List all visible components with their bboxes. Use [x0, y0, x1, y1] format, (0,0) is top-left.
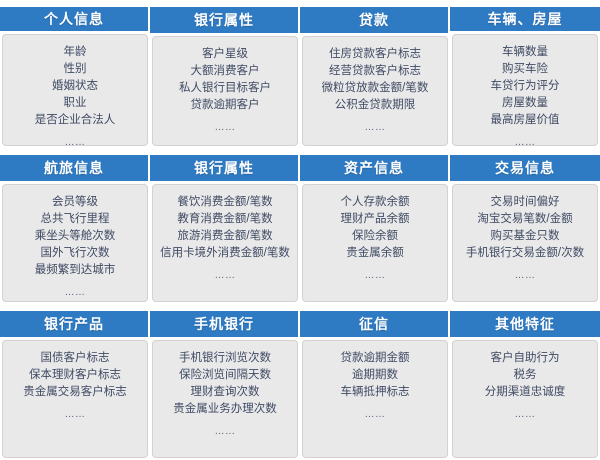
category-item: 乘坐头等舱次数 [35, 228, 116, 245]
ellipsis-marker: …… [215, 119, 236, 136]
category-item: 车辆抵押标志 [341, 384, 410, 401]
category-item-list: 国债客户标志保本理财客户标志贵金属交易客户标志…… [2, 340, 148, 458]
category-card: 交易信息交易时间偏好淘宝交易笔数/金额购买基金只数手机银行交易金额/次数…… [450, 155, 600, 304]
category-item: 购买车险 [502, 61, 548, 78]
category-item: 职业 [64, 95, 87, 112]
category-item: 餐饮消费金额/笔数 [177, 194, 272, 211]
category-item: 分期渠道忠诚度 [485, 384, 566, 401]
category-title: 交易信息 [450, 155, 600, 181]
category-item-list: 交易时间偏好淘宝交易笔数/金额购买基金只数手机银行交易金额/次数…… [452, 184, 598, 302]
category-title: 征信 [300, 311, 450, 337]
category-item: 客户星级 [202, 46, 248, 63]
category-item: 交易时间偏好 [491, 194, 560, 211]
category-card: 手机银行手机银行浏览次数保险浏览间隔天数理财查询次数贵金属业务办理次数…… [150, 311, 300, 460]
category-title: 手机银行 [150, 311, 300, 337]
category-card: 资产信息个人存款余额理财产品余额保险余额贵金属余额…… [300, 155, 450, 304]
category-card: 征信贷款逾期金额逾期期数车辆抵押标志…… [300, 311, 450, 460]
category-card: 银行属性客户星级大额消费客户私人银行目标客户贷款逾期客户…… [150, 7, 300, 148]
category-item-list: 年龄性别婚姻状态职业是否企业合法人…… [2, 34, 148, 146]
category-item-list: 会员等级总共飞行里程乘坐头等舱次数国外飞行次数最频繁到达城市…… [2, 184, 148, 302]
category-item: 贵金属交易客户标志 [23, 384, 127, 401]
ellipsis-marker: …… [365, 119, 386, 136]
category-item: 最高房屋价值 [491, 112, 560, 129]
category-item: 是否企业合法人 [35, 112, 116, 129]
category-title: 个人信息 [0, 7, 150, 31]
category-title: 贷款 [300, 7, 450, 33]
category-title: 航旅信息 [0, 155, 150, 181]
category-title: 车辆、房屋 [450, 7, 600, 31]
ellipsis-marker: …… [215, 267, 236, 284]
category-item-list: 餐饮消费金额/笔数教育消费金额/笔数旅游消费金额/笔数信用卡境外消费金额/笔数…… [152, 184, 298, 302]
category-item: 国债客户标志 [41, 350, 110, 367]
category-item: 车贷行为评分 [491, 78, 560, 95]
category-item: 教育消费金额/笔数 [177, 211, 272, 228]
category-card: 银行产品国债客户标志保本理财客户标志贵金属交易客户标志…… [0, 311, 150, 460]
category-item-list: 客户自助行为税务分期渠道忠诚度…… [452, 340, 598, 458]
category-card: 航旅信息会员等级总共飞行里程乘坐头等舱次数国外飞行次数最频繁到达城市…… [0, 155, 150, 304]
ellipsis-marker: …… [65, 284, 86, 301]
category-item: 最频繁到达城市 [35, 262, 116, 279]
grid-row: 个人信息年龄性别婚姻状态职业是否企业合法人……银行属性客户星级大额消费客户私人银… [0, 7, 600, 148]
category-item: 婚姻状态 [52, 78, 98, 95]
category-item-list: 个人存款余额理财产品余额保险余额贵金属余额…… [302, 184, 448, 302]
category-item-list: 住房贷款客户标志经营贷款客户标志微粒贷放款金额/笔数公积金贷款期限…… [302, 36, 448, 146]
category-item: 保险浏览间隔天数 [179, 367, 271, 384]
category-title: 资产信息 [300, 155, 450, 181]
category-item: 个人存款余额 [341, 194, 410, 211]
category-item: 购买基金只数 [491, 228, 560, 245]
category-item: 逾期期数 [352, 367, 398, 384]
ellipsis-marker: …… [365, 267, 386, 284]
category-item: 车辆数量 [502, 44, 548, 61]
category-item: 住房贷款客户标志 [329, 46, 421, 63]
category-item: 国外飞行次数 [41, 245, 110, 262]
ellipsis-marker: …… [215, 423, 236, 440]
category-card: 车辆、房屋车辆数量购买车险车贷行为评分房屋数量最高房屋价值…… [450, 7, 600, 148]
category-item: 客户自助行为 [491, 350, 560, 367]
category-card: 银行属性餐饮消费金额/笔数教育消费金额/笔数旅游消费金额/笔数信用卡境外消费金额… [150, 155, 300, 304]
category-card: 其他特征客户自助行为税务分期渠道忠诚度…… [450, 311, 600, 460]
category-item: 旅游消费金额/笔数 [177, 228, 272, 245]
category-item-list: 车辆数量购买车险车贷行为评分房屋数量最高房屋价值…… [452, 34, 598, 146]
category-item-list: 贷款逾期金额逾期期数车辆抵押标志…… [302, 340, 448, 458]
ellipsis-marker: …… [515, 134, 536, 146]
category-title: 银行属性 [150, 155, 300, 181]
category-item: 保本理财客户标志 [29, 367, 121, 384]
category-card: 贷款住房贷款客户标志经营贷款客户标志微粒贷放款金额/笔数公积金贷款期限…… [300, 7, 450, 148]
feature-category-grid: 个人信息年龄性别婚姻状态职业是否企业合法人……银行属性客户星级大额消费客户私人银… [0, 0, 600, 460]
category-item: 贷款逾期客户 [191, 97, 260, 114]
category-item-list: 手机银行浏览次数保险浏览间隔天数理财查询次数贵金属业务办理次数…… [152, 340, 298, 458]
category-item: 微粒贷放款金额/笔数 [322, 80, 429, 97]
category-title: 银行产品 [0, 311, 150, 337]
category-item: 理财产品余额 [341, 211, 410, 228]
category-title: 其他特征 [450, 311, 600, 337]
category-item: 性别 [64, 61, 87, 78]
category-item: 贵金属业务办理次数 [173, 401, 277, 418]
category-item: 手机银行浏览次数 [179, 350, 271, 367]
category-item: 淘宝交易笔数/金额 [477, 211, 572, 228]
category-item: 贵金属余额 [346, 245, 404, 262]
category-item: 保险余额 [352, 228, 398, 245]
category-item-list: 客户星级大额消费客户私人银行目标客户贷款逾期客户…… [152, 36, 298, 146]
ellipsis-marker: …… [515, 406, 536, 423]
category-item: 经营贷款客户标志 [329, 63, 421, 80]
grid-row: 银行产品国债客户标志保本理财客户标志贵金属交易客户标志……手机银行手机银行浏览次… [0, 311, 600, 460]
category-title: 银行属性 [150, 7, 300, 33]
category-item: 会员等级 [52, 194, 98, 211]
category-item: 私人银行目标客户 [179, 80, 271, 97]
grid-row: 航旅信息会员等级总共飞行里程乘坐头等舱次数国外飞行次数最频繁到达城市……银行属性… [0, 155, 600, 304]
ellipsis-marker: …… [515, 267, 536, 284]
category-item: 大额消费客户 [191, 63, 260, 80]
category-item: 年龄 [64, 44, 87, 61]
category-item: 信用卡境外消费金额/笔数 [160, 245, 290, 262]
category-item: 手机银行交易金额/次数 [466, 245, 584, 262]
ellipsis-marker: …… [365, 406, 386, 423]
category-item: 房屋数量 [502, 95, 548, 112]
ellipsis-marker: …… [65, 134, 86, 146]
category-item: 公积金贷款期限 [335, 97, 416, 114]
category-item: 理财查询次数 [191, 384, 260, 401]
category-item: 总共飞行里程 [41, 211, 110, 228]
category-item: 贷款逾期金额 [341, 350, 410, 367]
category-item: 税务 [514, 367, 537, 384]
category-card: 个人信息年龄性别婚姻状态职业是否企业合法人…… [0, 7, 150, 148]
ellipsis-marker: …… [65, 406, 86, 423]
